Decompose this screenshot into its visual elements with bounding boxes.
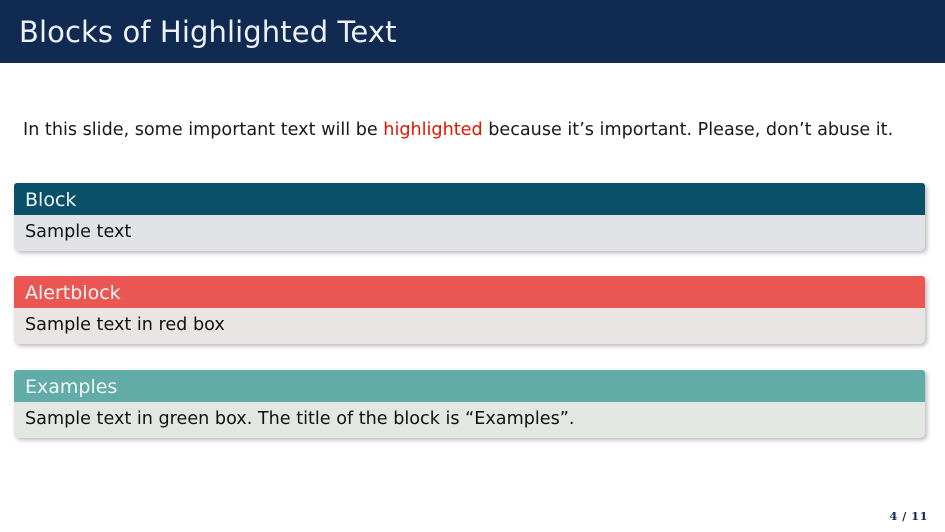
- block-standard: Block Sample text: [14, 183, 925, 251]
- paragraph-text-after: because it’s important. Please, don’t ab…: [483, 120, 894, 140]
- block-standard-body: Sample text: [14, 215, 925, 251]
- block-alert-body: Sample text in red box: [14, 308, 925, 344]
- block-alert-title: Alertblock: [14, 276, 925, 308]
- slide-title-bar: Blocks of Highlighted Text: [0, 0, 945, 63]
- slide-paragraph: In this slide, some important text will …: [23, 117, 903, 144]
- block-example-title: Examples: [14, 370, 925, 402]
- block-alert: Alertblock Sample text in red box: [14, 276, 925, 344]
- slide-title: Blocks of Highlighted Text: [19, 14, 397, 50]
- block-example: Examples Sample text in green box. The t…: [14, 370, 925, 438]
- highlighted-text: highlighted: [383, 120, 482, 140]
- page-number: 4 / 11: [889, 509, 928, 523]
- paragraph-text-before: In this slide, some important text will …: [23, 120, 383, 140]
- slide-canvas: Blocks of Highlighted Text In this slide…: [0, 0, 945, 532]
- block-example-body: Sample text in green box. The title of t…: [14, 402, 925, 438]
- block-standard-title: Block: [14, 183, 925, 215]
